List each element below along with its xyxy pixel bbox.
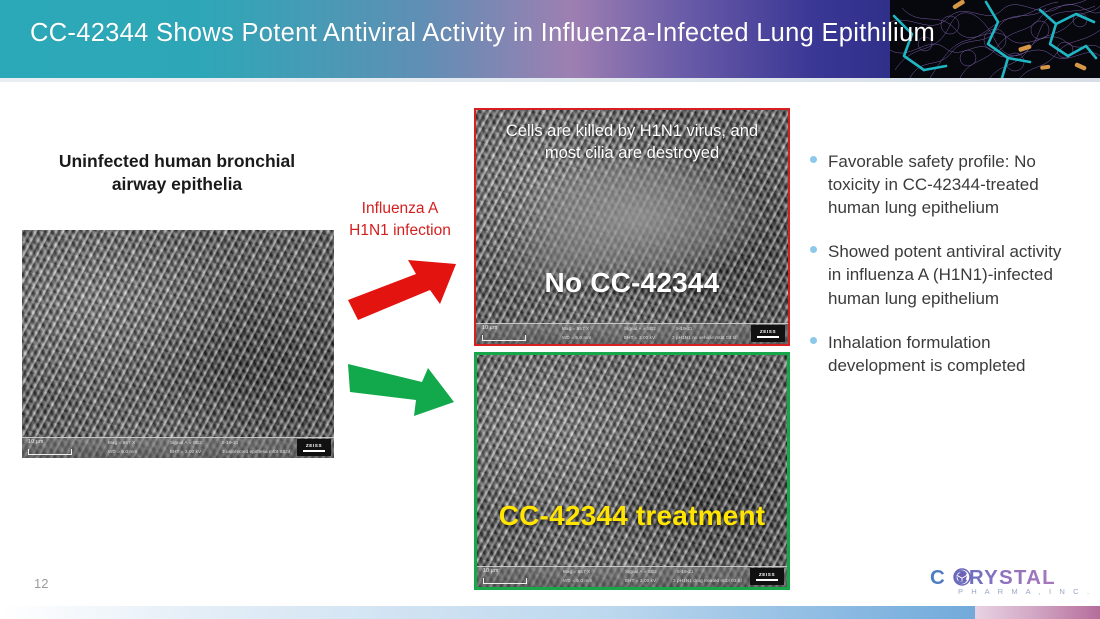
meta-wd: WD = 5.0 mm: [562, 334, 591, 342]
red-arrow-up-right-icon: [344, 258, 460, 329]
meta-eht: EHT = 2.00 kV: [624, 334, 655, 342]
scale-bar-line: [483, 578, 527, 584]
scale-bar-line: [482, 335, 526, 341]
left-caption-line1: Uninfected human bronchial: [22, 150, 332, 173]
logo-subtitle: P H A R M A , I N C .: [958, 587, 1092, 596]
sem-texture: [22, 230, 334, 458]
panel-top-caption: Cells are killed by H1N1 virus, and most…: [476, 120, 788, 164]
bullet-list: Favorable safety profile: No toxicity in…: [808, 150, 1076, 398]
green-arrow-down-right-icon: [344, 358, 460, 429]
meta-signal: Signal A = SE2: [624, 325, 656, 333]
meta-date: 5-19-21: [676, 325, 693, 333]
zeiss-logo-text: ZEISS: [759, 572, 775, 577]
meta-sample: 3 pH1N1 drug treated mtbt 03.tif: [673, 577, 742, 585]
bullet-item-2: Inhalation formulation development is co…: [808, 331, 1076, 377]
scale-bar-label: 10 µm: [28, 439, 44, 445]
zeiss-logo: ZEISS: [751, 325, 785, 342]
panel-top-tag: No CC-42344: [476, 267, 788, 299]
zeiss-logo: ZEISS: [297, 439, 331, 456]
bullet-dot-icon: [810, 246, 817, 253]
panel-no-treatment: 10 µm Mag = 557 X WD = 5.0 mm Signal A =…: [474, 108, 790, 346]
left-panel-caption: Uninfected human bronchial airway epithe…: [22, 150, 332, 196]
meta-wd: WD = 5.0 mm: [563, 577, 592, 585]
slide: CC-42344 Shows Potent Antiviral Activity…: [0, 0, 1100, 619]
scale-bar-label: 10 µm: [482, 325, 498, 331]
meta-signal: Signal A = SE2: [170, 439, 202, 447]
meta-wd: WD = 5.0 mm: [108, 448, 137, 456]
bullet-dot-icon: [810, 337, 817, 344]
header-divider: [0, 78, 1100, 82]
meta-sample: 3 pH1N1 no vehicle mtbt 03.tif: [672, 334, 737, 342]
footer-swoosh: [0, 597, 1100, 619]
meta-eht: EHT = 2.00 kV: [170, 448, 201, 456]
bullet-dot-icon: [810, 156, 817, 163]
sem-image-treated: 10 µm Mag = 557 X WD = 5.0 mm Signal A =…: [477, 355, 787, 587]
scale-bar-line: [28, 449, 72, 455]
panel-bottom-tag: CC-42344 treatment: [477, 500, 787, 532]
crystal-hexagon-icon: [953, 568, 971, 586]
sem-metadata-bar: 10 µm Mag = 557 X WD = 5.0 mm Signal A =…: [476, 323, 788, 344]
scale-bar-label: 10 µm: [483, 568, 499, 574]
panel-cc42344-treatment: 10 µm Mag = 557 X WD = 5.0 mm Signal A =…: [474, 352, 790, 590]
meta-eht: EHT = 2.00 kV: [625, 577, 656, 585]
bullet-text: Favorable safety profile: No toxicity in…: [828, 152, 1039, 217]
meta-mag: Mag = 557 X: [563, 568, 590, 576]
bullet-item-0: Favorable safety profile: No toxicity in…: [808, 150, 1076, 219]
sem-metadata-bar: 10 µm Mag = 557 X WD = 5.0 mm Signal A =…: [22, 437, 334, 458]
meta-mag: Mag = 557 X: [562, 325, 589, 333]
meta-mag: Mag = 557 X: [108, 439, 135, 447]
sem-texture: [477, 355, 787, 587]
meta-date: 5-19-21: [222, 439, 239, 447]
meta-sample: 3 uninfected epithelia mtbt 03.tif: [222, 448, 290, 456]
slide-header: CC-42344 Shows Potent Antiviral Activity…: [0, 0, 1100, 78]
panel-top-caption-line2: most cilia are destroyed: [476, 142, 788, 164]
cocrystal-logo: C CRYSTAL P H A R M A , I N C .: [930, 566, 1082, 596]
bullet-text: Inhalation formulation development is co…: [828, 333, 1026, 375]
zeiss-logo-text: ZEISS: [306, 443, 322, 448]
zeiss-logo: ZEISS: [750, 568, 784, 585]
zeiss-logo-text: ZEISS: [760, 329, 776, 334]
infection-label-line2: H1N1 infection: [330, 220, 470, 242]
infection-label: Influenza A H1N1 infection: [330, 198, 470, 242]
sem-image-uninfected: 10 µm Mag = 557 X WD = 5.0 mm Signal A =…: [22, 230, 334, 458]
left-caption-line2: airway epithelia: [22, 173, 332, 196]
page-title: CC-42344 Shows Potent Antiviral Activity…: [30, 19, 935, 48]
meta-date: 5-19-21: [677, 568, 694, 576]
bullet-item-1: Showed potent antiviral activity in infl…: [808, 240, 1076, 309]
panel-top-caption-line1: Cells are killed by H1N1 virus, and: [476, 120, 788, 142]
meta-signal: Signal A = SE2: [625, 568, 657, 576]
sem-metadata-bar: 10 µm Mag = 557 X WD = 5.0 mm Signal A =…: [477, 566, 787, 587]
infection-label-line1: Influenza A: [330, 198, 470, 220]
bullet-text: Showed potent antiviral activity in infl…: [828, 242, 1061, 307]
page-number: 12: [34, 576, 48, 591]
